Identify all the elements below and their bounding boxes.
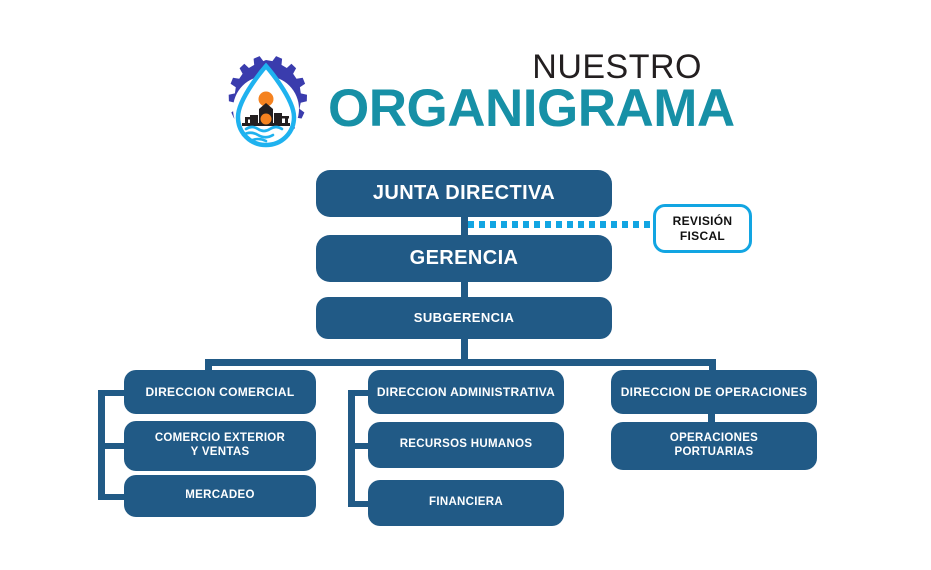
node-comercio-exterior-y-ventas[interactable]: COMERCIO EXTERIOR Y VENTAS	[124, 421, 316, 471]
node-gerencia[interactable]: GERENCIA	[316, 235, 612, 282]
node-mercadeo[interactable]: MERCADEO	[124, 475, 316, 517]
node-subgerencia[interactable]: SUBGERENCIA	[316, 297, 612, 339]
node-label-line1: REVISIÓN	[673, 214, 733, 228]
node-direccion-administrativa[interactable]: DIRECCION ADMINISTRATIVA	[368, 370, 564, 414]
node-direccion-de-operaciones[interactable]: DIRECCION DE OPERACIONES	[611, 370, 817, 414]
connector-junta-gerencia	[461, 216, 468, 236]
node-label: DIRECCION ADMINISTRATIVA	[377, 385, 555, 399]
node-label: GERENCIA	[410, 247, 519, 271]
node-label-line2: PORTUARIAS	[674, 446, 753, 458]
node-label: DIRECCION DE OPERACIONES	[621, 385, 808, 399]
node-label: JUNTA DIRECTIVA	[373, 182, 555, 206]
node-label: RECURSOS HUMANOS	[400, 438, 533, 452]
node-recursos-humanos[interactable]: RECURSOS HUMANOS	[368, 422, 564, 468]
node-label: SUBGERENCIA	[414, 310, 514, 325]
node-direccion-comercial[interactable]: DIRECCION COMERCIAL	[124, 370, 316, 414]
connector-bus-horizontal	[205, 359, 716, 366]
org-chart: JUNTA DIRECTIVA REVISIÓN FISCAL GERENCIA…	[0, 0, 931, 570]
node-label-line2: FISCAL	[680, 229, 725, 243]
node-label: DIRECCION COMERCIAL	[145, 385, 294, 399]
node-label-line2: Y VENTAS	[191, 446, 250, 458]
node-label-line1: OPERACIONES	[670, 432, 758, 444]
organigrama-canvas: NUESTRO ORGANIGRAMA JUNTA DI	[0, 0, 931, 570]
node-junta-directiva[interactable]: JUNTA DIRECTIVA	[316, 170, 612, 217]
node-label: FINANCIERA	[429, 496, 503, 510]
node-operaciones-portuarias[interactable]: OPERACIONES PORTUARIAS	[611, 422, 817, 470]
node-label-line1: COMERCIO EXTERIOR	[155, 432, 285, 444]
node-revision-fiscal[interactable]: REVISIÓN FISCAL	[653, 204, 752, 253]
node-financiera[interactable]: FINANCIERA	[368, 480, 564, 526]
connector-dashed-revision-fiscal	[468, 221, 653, 228]
node-label: MERCADEO	[185, 489, 255, 503]
